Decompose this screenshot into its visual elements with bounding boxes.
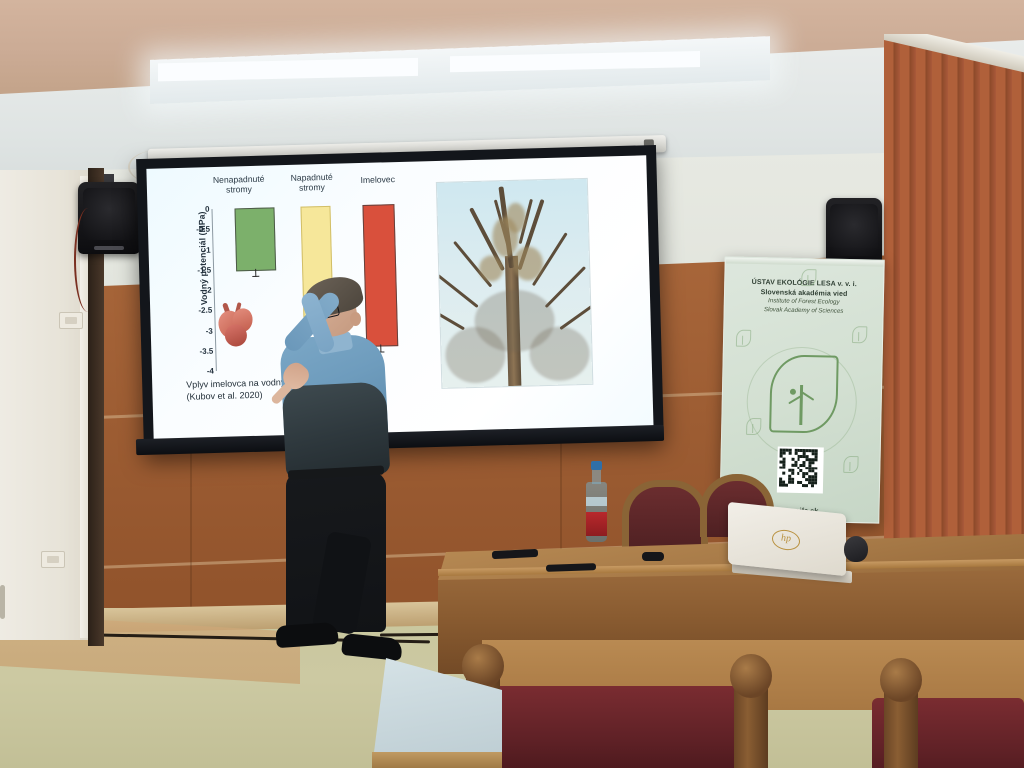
- chart-y-ticks: 0 -0.5 -1 -1.5 -2 -2.5 -3 -3.5 -4: [179, 209, 213, 372]
- heart-illustration: [216, 302, 257, 349]
- foreground-bench-row: [372, 640, 1024, 768]
- presenter-ear: [350, 312, 361, 326]
- foreground-table-edge: [372, 752, 502, 768]
- desk-small-device[interactable]: [642, 552, 664, 561]
- y-tick-0: 0: [205, 205, 210, 214]
- bench-seat-1[interactable]: [492, 686, 742, 768]
- bench-finial-2: [730, 654, 772, 698]
- mistletoe-clump-3: [479, 255, 504, 282]
- chart-category-label-0: Nenapadnuté stromy: [203, 173, 276, 195]
- chart-category-label-1: Napadnuté stromy: [279, 171, 346, 193]
- banner-title-en-2: Slovak Academy of Sciences: [733, 305, 875, 317]
- y-tick-1: -0.5: [196, 225, 210, 234]
- hp-laptop[interactable]: hp: [728, 508, 850, 582]
- chart-errorbar-0: [255, 269, 257, 277]
- wall-outlet-upper: [59, 312, 83, 329]
- qr-code[interactable]: [777, 447, 824, 494]
- leaf-logo-icon: [769, 354, 835, 429]
- y-tick-7: -3.5: [199, 346, 213, 355]
- bench-finial-3: [880, 658, 922, 702]
- watermark-leaf-1: [736, 330, 751, 347]
- watermark-leaf-4: [843, 456, 858, 473]
- wall-outlet-lower: [41, 551, 65, 568]
- chart-category-label-2: Imelovec: [347, 174, 409, 186]
- lecture-room-photo: Vodný potenciál (MPa) Nenapadnuté stromy…: [0, 0, 1024, 768]
- presenter-shoe-left: [275, 622, 338, 648]
- y-tick-2: -1: [203, 245, 210, 254]
- presenter-person: [258, 272, 428, 672]
- speaker-wire: [74, 208, 102, 312]
- watermark-leaf-2: [852, 326, 867, 343]
- banner-top-rail: [726, 257, 884, 266]
- y-tick-5: -2.5: [198, 306, 212, 315]
- water-bottle[interactable]: [586, 458, 607, 542]
- door-handle[interactable]: [0, 585, 5, 619]
- computer-mouse[interactable]: [844, 536, 868, 562]
- vertical-blinds: [884, 34, 1024, 620]
- y-tick-8: -4: [207, 367, 214, 376]
- y-tick-4: -2: [204, 286, 211, 295]
- presenter-vest: [282, 381, 391, 478]
- y-tick-6: -3: [206, 326, 213, 335]
- slide-tree-photo: [437, 179, 592, 388]
- y-tick-3: -1.5: [197, 265, 211, 274]
- chart-bar-nenapadnute: [234, 207, 276, 271]
